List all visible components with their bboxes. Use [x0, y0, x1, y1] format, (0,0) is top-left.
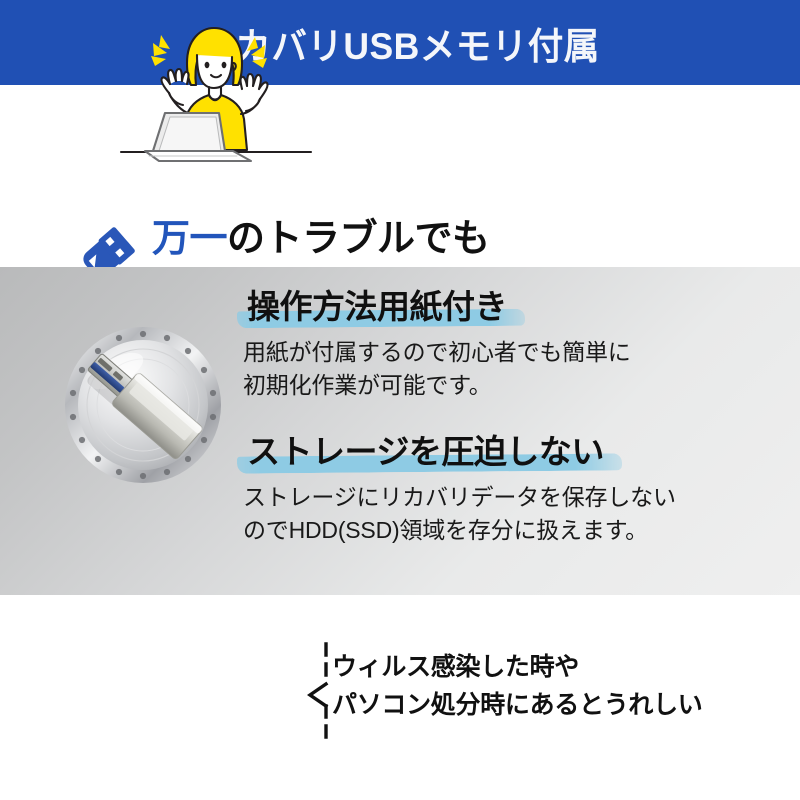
feature-2-body-line-1: ストレージにリカバリデータを保存しない — [243, 481, 788, 514]
features-panel: 操作方法用紙付き 用紙が付属するので初心者でも簡単に 初期化作業が可能です。 ス… — [0, 267, 800, 595]
hero-headline-line-1: 万一のトラブルでも — [152, 213, 792, 266]
features-list: 操作方法用紙付き 用紙が付属するので初心者でも簡単に 初期化作業が可能です。 ス… — [243, 285, 788, 547]
feature-1-heading: 操作方法用紙付き — [243, 285, 511, 329]
woman-at-laptop-raising-hands-illustration — [115, 15, 330, 180]
hero-line1-highlight: 万一 — [152, 218, 227, 260]
feature-1-body-line-1: 用紙が付属するので初心者でも簡単に — [243, 336, 788, 369]
feature-item-1: 操作方法用紙付き 用紙が付属するので初心者でも簡単に 初期化作業が可能です。 — [243, 285, 788, 402]
bottom-caption-line-1: ウィルス感染した時や — [332, 648, 792, 686]
feature-item-2: ストレージを圧迫しない ストレージにリカバリデータを保存しない のでHDD(SS… — [243, 430, 788, 547]
feature-2-heading: ストレージを圧迫しない — [243, 430, 608, 474]
feature-2-body: ストレージにリカバリデータを保存しない のでHDD(SSD)領域を存分に扱えます… — [243, 481, 788, 547]
hero-line1-rest: のトラブルでも — [227, 218, 490, 260]
promo-banner-page: リカバリUSBメモリ付属 万一のトラブルでも — [0, 0, 800, 800]
usb-memory-stick-on-metal-disc-photo — [48, 309, 238, 499]
bottom-caption: ウィルス感染した時や パソコン処分時にあるとうれしい — [332, 648, 792, 724]
feature-1-body: 用紙が付属するので初心者でも簡単に 初期化作業が可能です。 — [243, 336, 788, 402]
feature-1-body-line-2: 初期化作業が可能です。 — [243, 369, 788, 402]
feature-2-body-line-2: のでHDD(SSD)領域を存分に扱えます。 — [243, 514, 788, 547]
bottom-caption-line-2: パソコン処分時にあるとうれしい — [332, 686, 792, 724]
